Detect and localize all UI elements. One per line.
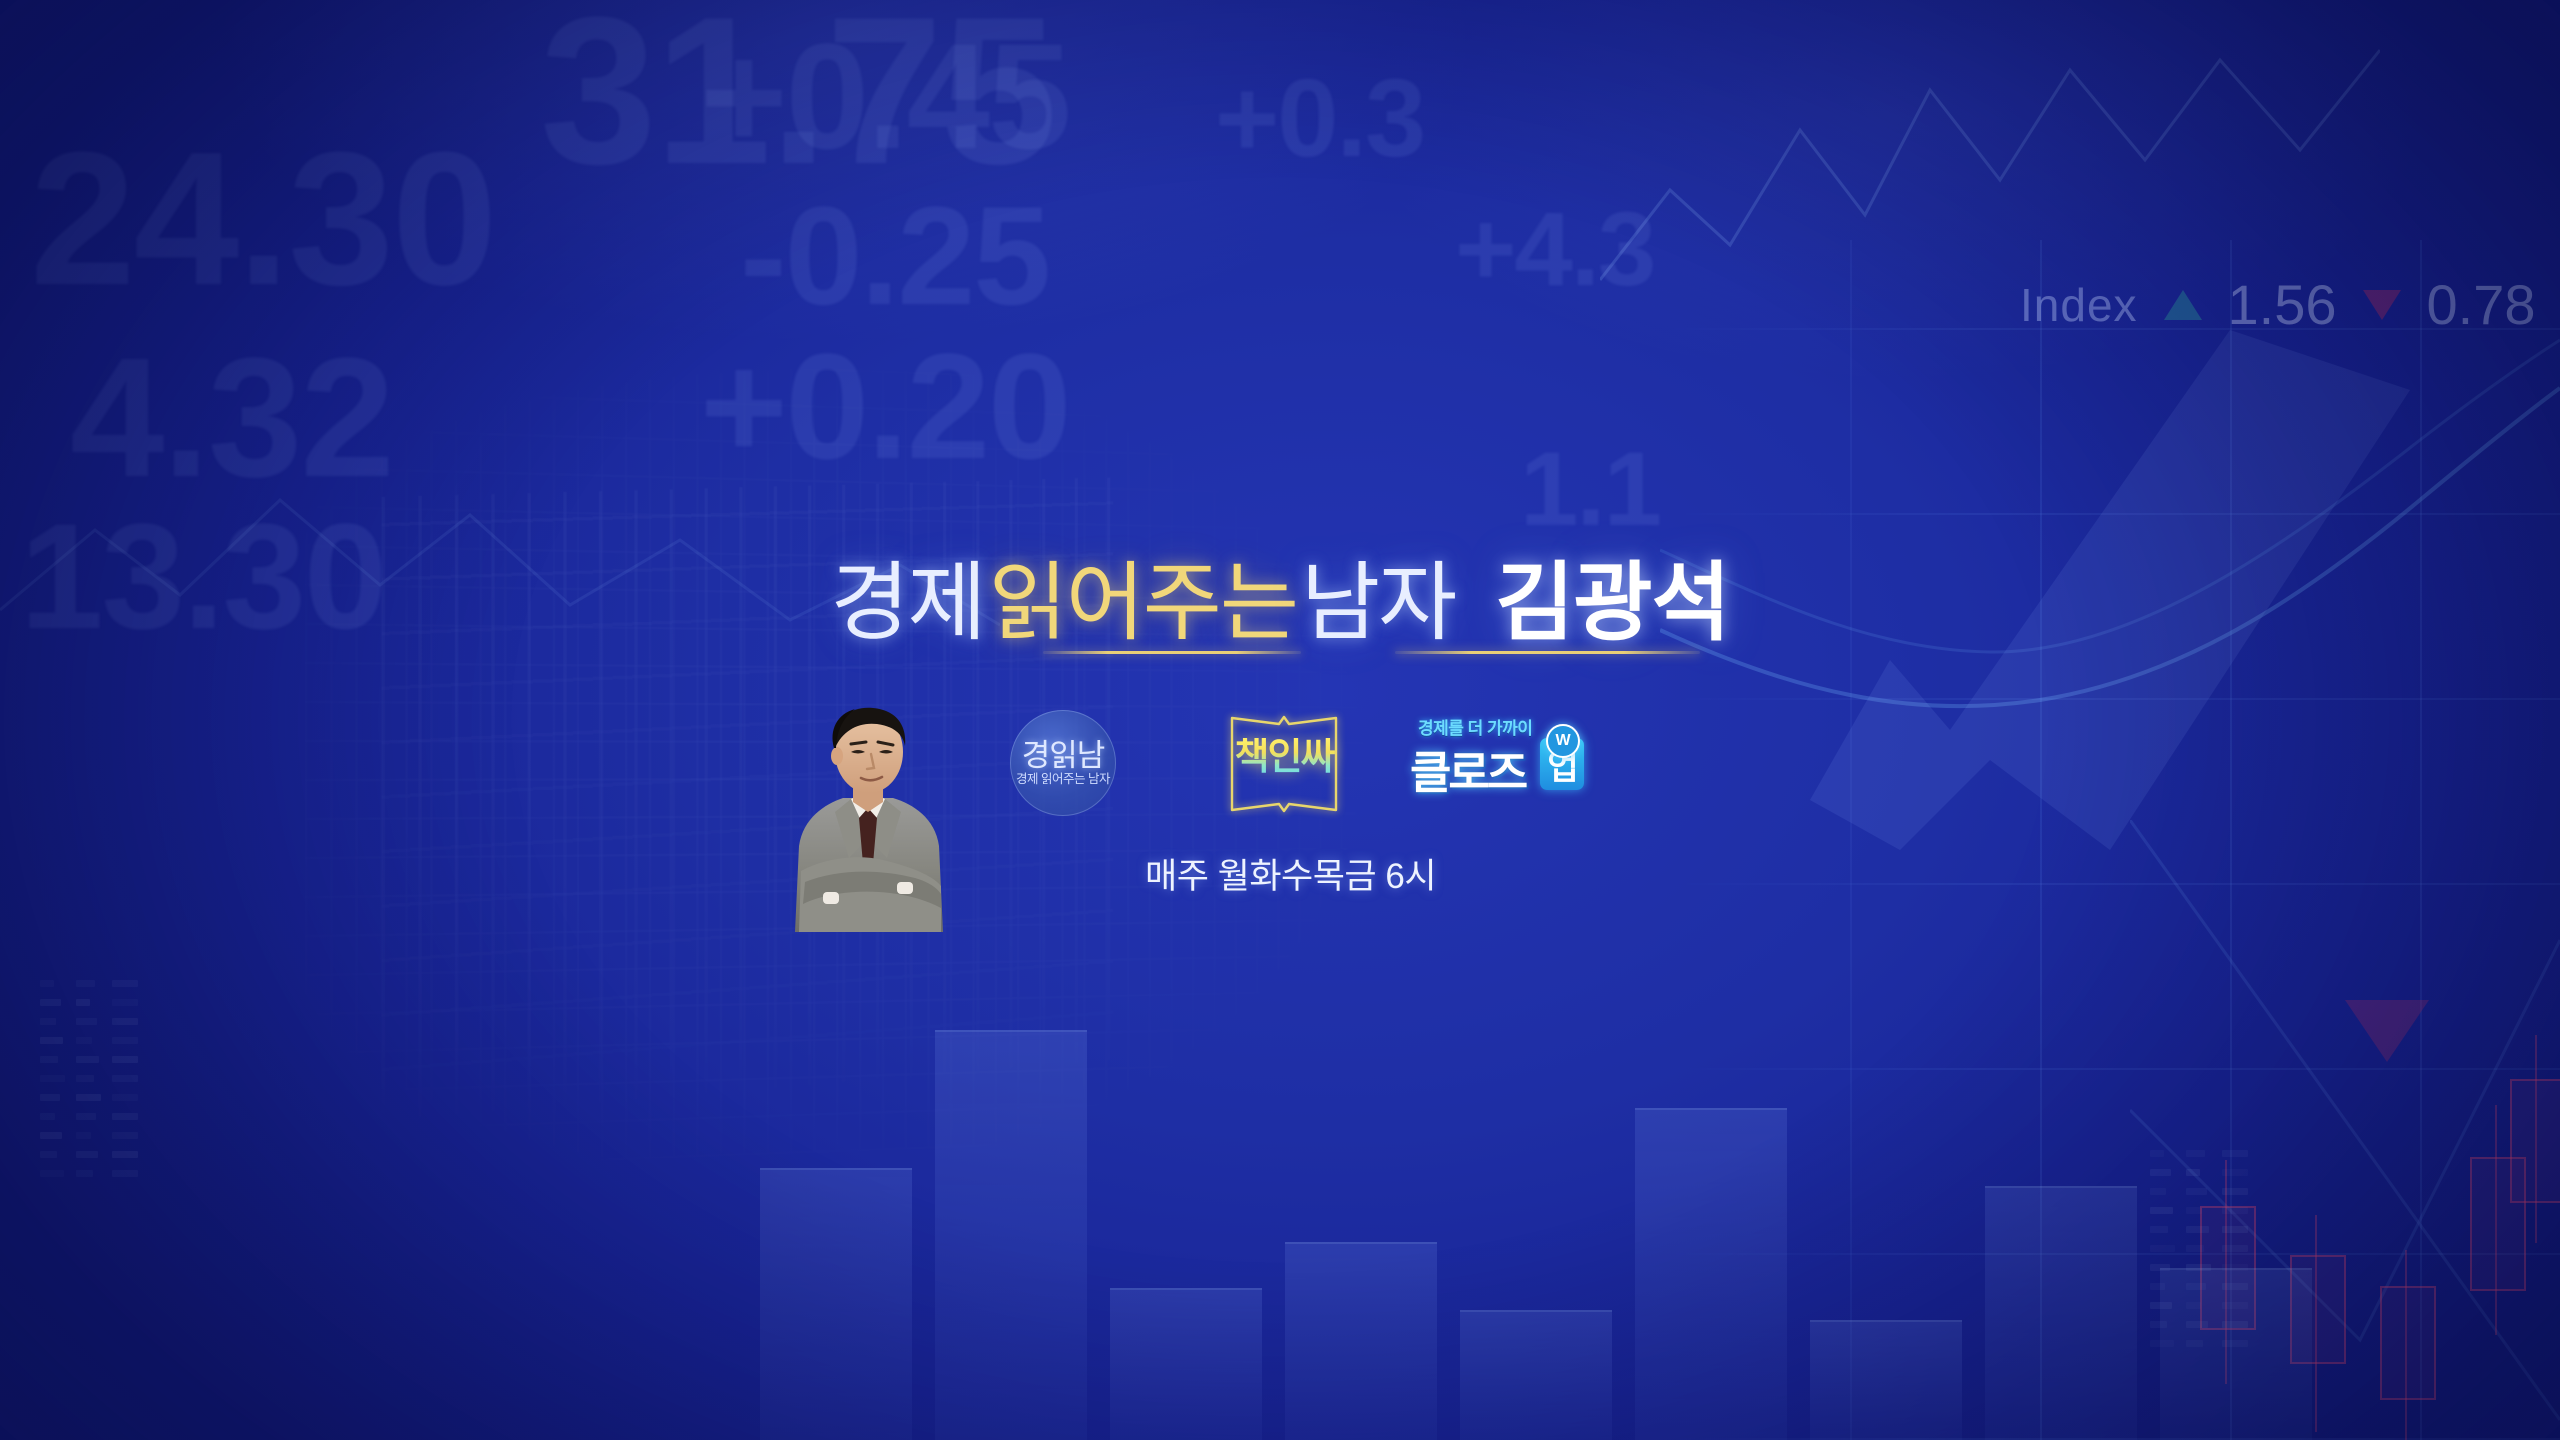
logo-kyeongilknam-main: 경읽남 [1022,740,1105,771]
host-photo [765,696,971,932]
program-title: 경제 읽어주는 남자 김광석 [830,560,1729,646]
logo-kyeongilknam[interactable]: 경읽남 경제 읽어주는 남자 [1010,710,1116,816]
title-part-4: 김광석 [1495,560,1729,646]
host-illustration [765,696,971,932]
title-underline-right [1395,651,1700,654]
logo-closeup[interactable]: 경제를 더 가까이 클로즈 업 W [1410,714,1586,812]
logo-chaekinssa[interactable]: 책인싸 [1222,704,1346,824]
logo-chaekinssa-text: 책인싸 [1222,738,1346,776]
title-underline-left [1043,651,1301,654]
sub-brand-logos: 경읽남 경제 읽어주는 남자 책인싸 경제를 더 가까이 클로즈 업 W [1010,712,1650,822]
broadcast-title-card: 31.7524.304.3213.30+0.45-0.25+0.20+0.3+4… [0,0,2560,1440]
logo-closeup-main: 클로즈 [1410,736,1525,801]
title-part-3: 남자 [1301,560,1455,646]
title-part-1: 경제 [830,560,984,646]
logo-kyeongilknam-sub: 경제 읽어주는 남자 [1016,773,1110,786]
broadcast-schedule: 매주 월화수목금 6시 [1145,848,1436,899]
w-badge-icon: W [1546,724,1580,758]
title-part-2: 읽어주는 [985,560,1301,646]
